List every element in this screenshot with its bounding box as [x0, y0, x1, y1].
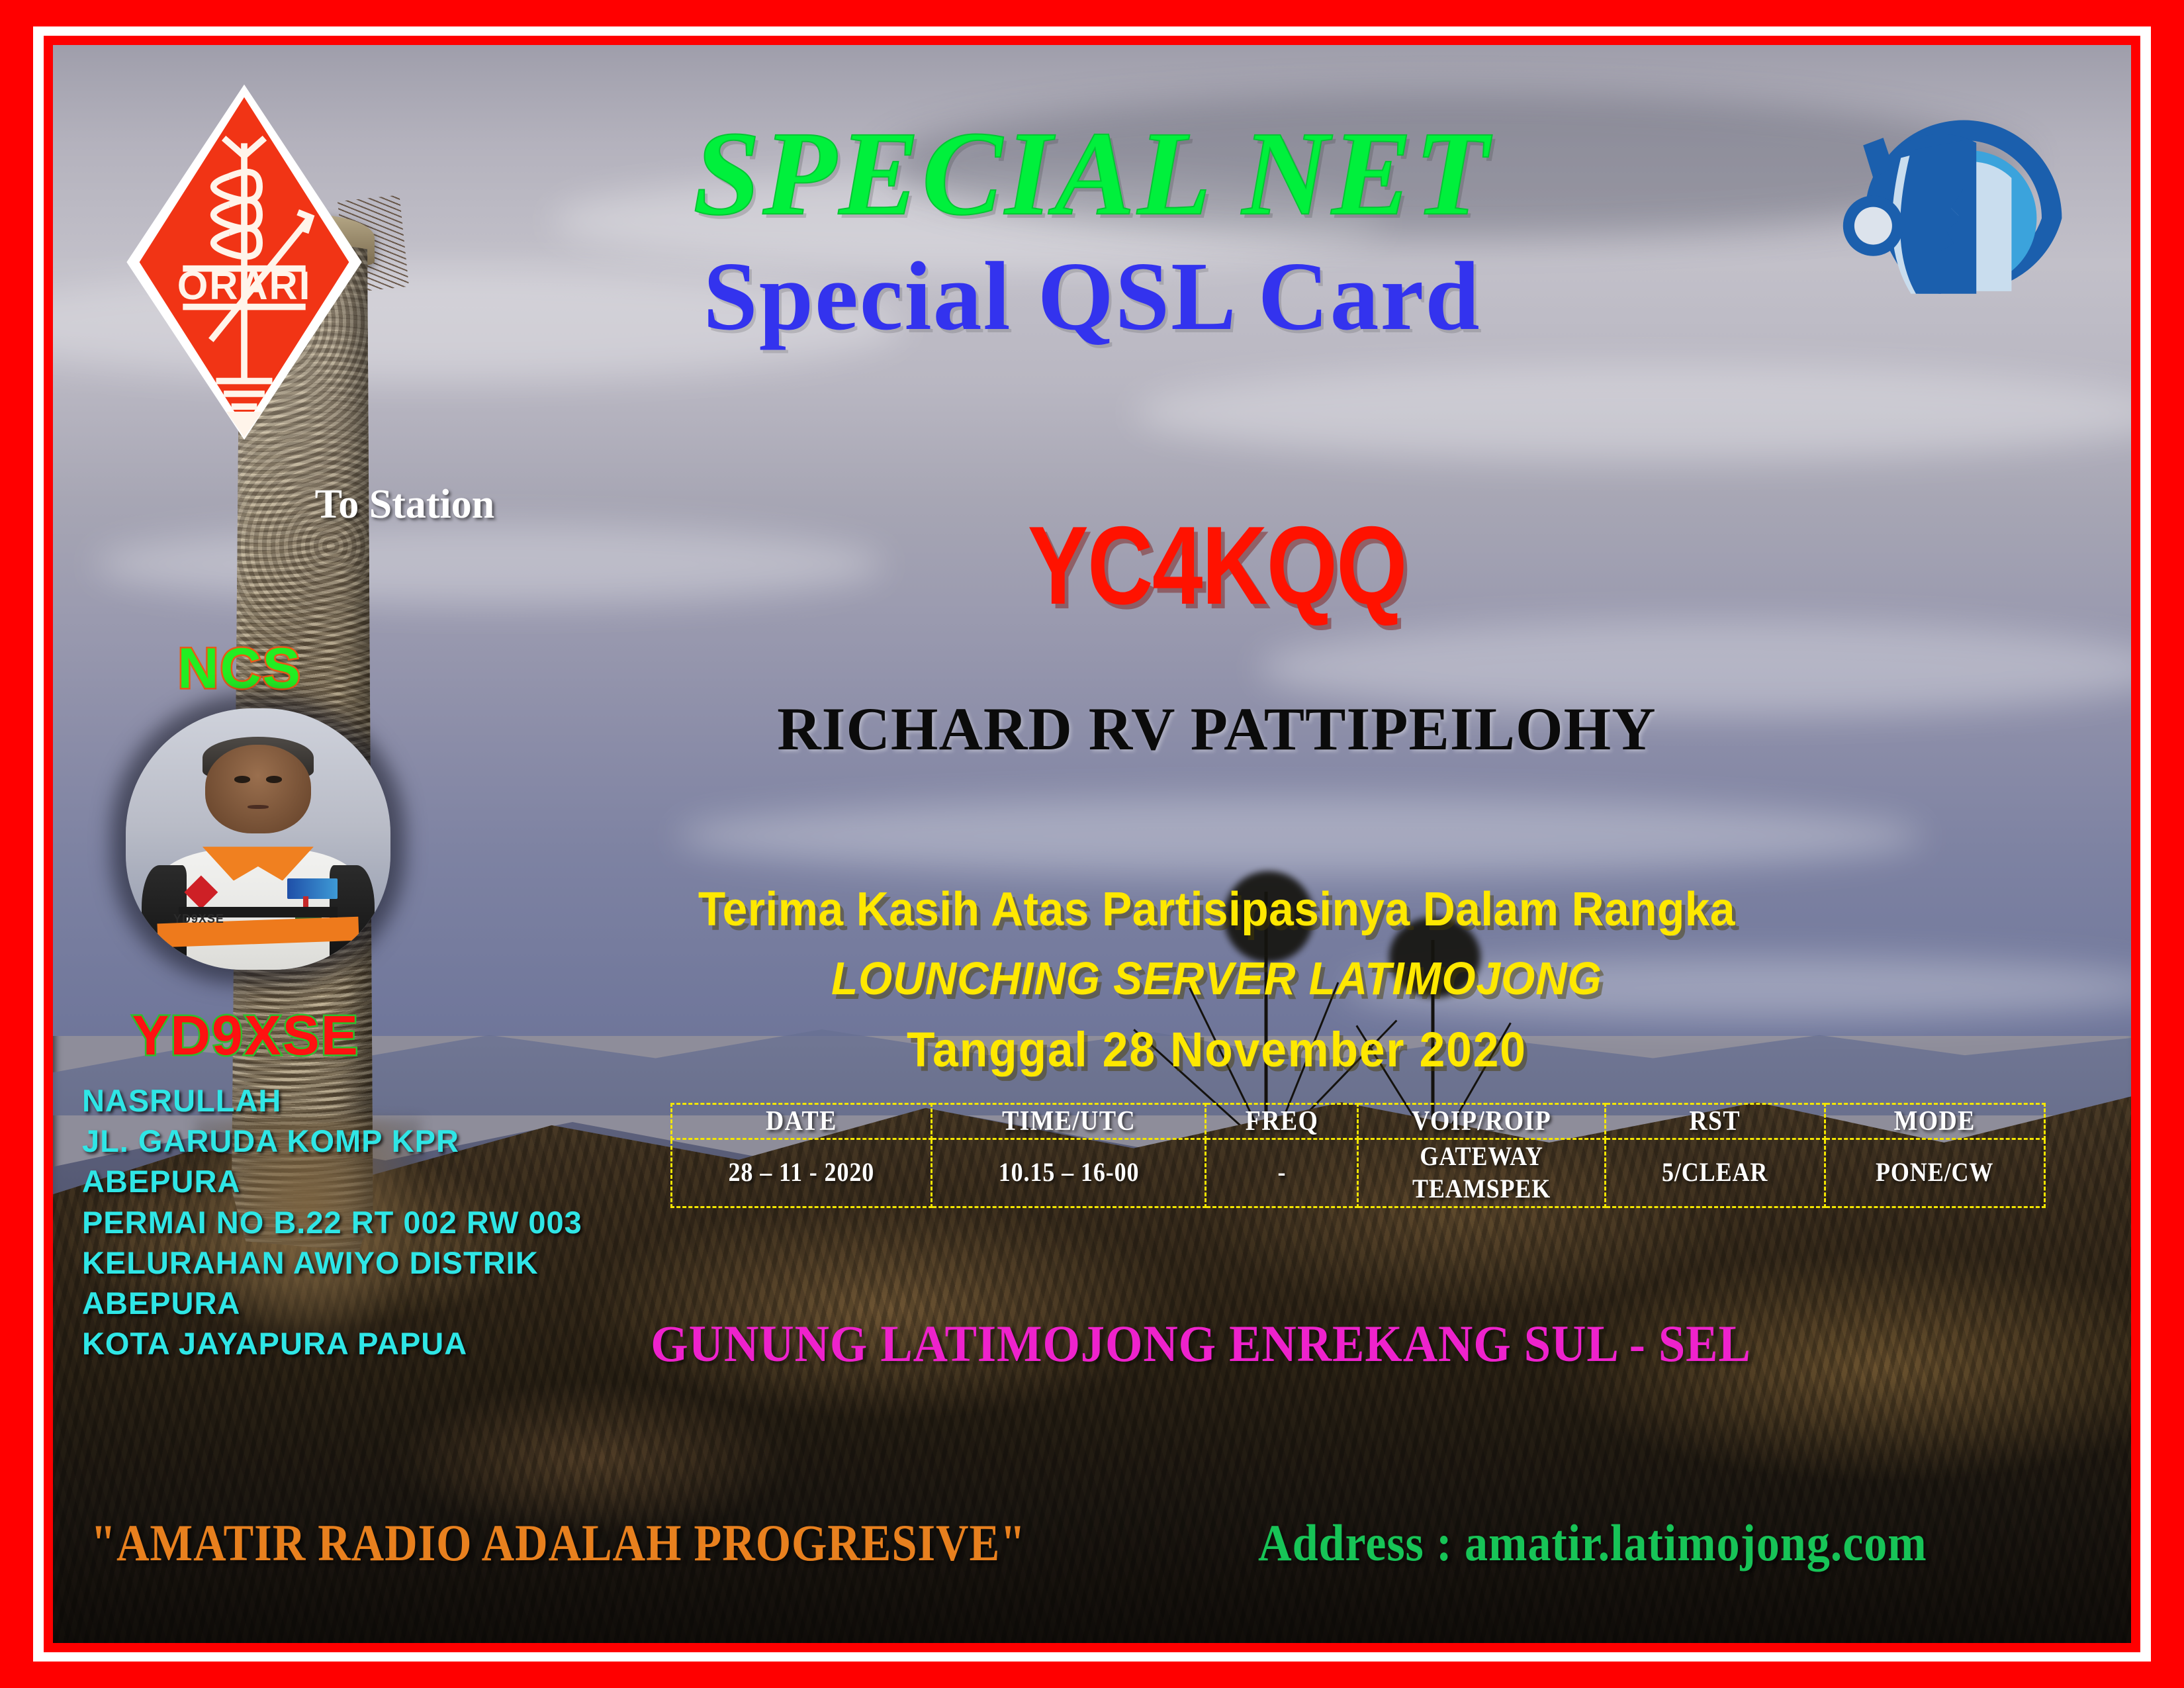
event-line-1: Terima Kasih Atas Partisipasinya Dalam R… — [416, 882, 2017, 937]
ncs-callsign: YD9XSE — [132, 1004, 359, 1068]
address-line: KELURAHAN AWIYO DISTRIK — [82, 1243, 582, 1283]
address-line: PERMAI NO B.22 RT 002 RW 003 — [82, 1202, 582, 1243]
cell-voip-line1: GATEWAY — [1372, 1141, 1591, 1173]
operator-name: RICHARD RV PATTIPEILOHY — [365, 694, 2069, 764]
qso-table: DATE TIME/UTC FREQ VOIP/ROIP RST MODE 28… — [670, 1103, 2046, 1183]
footer-web-address: Address : amatir.latimojong.com — [1258, 1513, 1927, 1573]
table-header-mode: MODE — [1836, 1104, 2034, 1139]
footer-slogan: "AMATIR RADIO ADALAH PROGRESIVE" — [91, 1513, 1026, 1573]
table-header-time: TIME/UTC — [945, 1104, 1192, 1139]
callsign-wrapper: YC4KQQ — [365, 502, 2069, 630]
cell-voip: GATEWAY TEAMSPEK — [1371, 1139, 1593, 1207]
table-header-row: DATE TIME/UTC FREQ VOIP/ROIP RST MODE — [671, 1104, 2045, 1139]
cell-mode: PONE/CW — [1836, 1139, 2034, 1207]
event-line-3: Tanggal 28 November 2020 — [416, 1021, 2017, 1078]
cell-freq: - — [1213, 1139, 1350, 1207]
event-line-2: LOUNCHING SERVER LATIMOJONG — [416, 952, 2017, 1005]
cloud-streak — [1134, 365, 2131, 461]
card-background-photo: ORARI SPECIAL NET Special QSL Card To St… — [53, 45, 2131, 1643]
table-header-date: DATE — [684, 1104, 919, 1139]
address-line: ABEPURA — [82, 1161, 582, 1201]
cloud-streak — [676, 796, 1923, 876]
table-header-freq: FREQ — [1213, 1104, 1350, 1139]
cell-rst: 5/CLEAR — [1616, 1139, 1814, 1207]
cell-date: 28 – 11 - 2020 — [684, 1139, 919, 1207]
ncs-label: NCS — [177, 636, 302, 702]
ncs-operator-photo: YD9XSE — [126, 708, 390, 970]
location-line: GUNUNG LATIMOJONG ENREKANG SUL - SEL — [414, 1314, 1989, 1374]
table-row: 28 – 11 - 2020 10.15 – 16-00 - GATEWAY T… — [671, 1139, 2045, 1207]
table-header-rst: RST — [1616, 1104, 1814, 1139]
page-subtitle: Special QSL Card — [53, 240, 2131, 353]
cell-time: 10.15 – 16-00 — [945, 1139, 1192, 1207]
station-callsign: YC4KQQ — [1027, 502, 1406, 630]
address-line: NASRULLAH — [82, 1080, 582, 1121]
cell-voip-line2: TEAMSPEK — [1372, 1173, 1591, 1205]
address-line: JL. GARUDA KOMP KPR — [82, 1121, 582, 1161]
photo-uniform-callsign: YD9XSE — [173, 912, 224, 926]
qsl-card: ORARI SPECIAL NET Special QSL Card To St… — [0, 0, 2184, 1688]
page-title: SPECIAL NET — [53, 105, 2131, 243]
table-header-voip: VOIP/ROIP — [1371, 1104, 1593, 1139]
